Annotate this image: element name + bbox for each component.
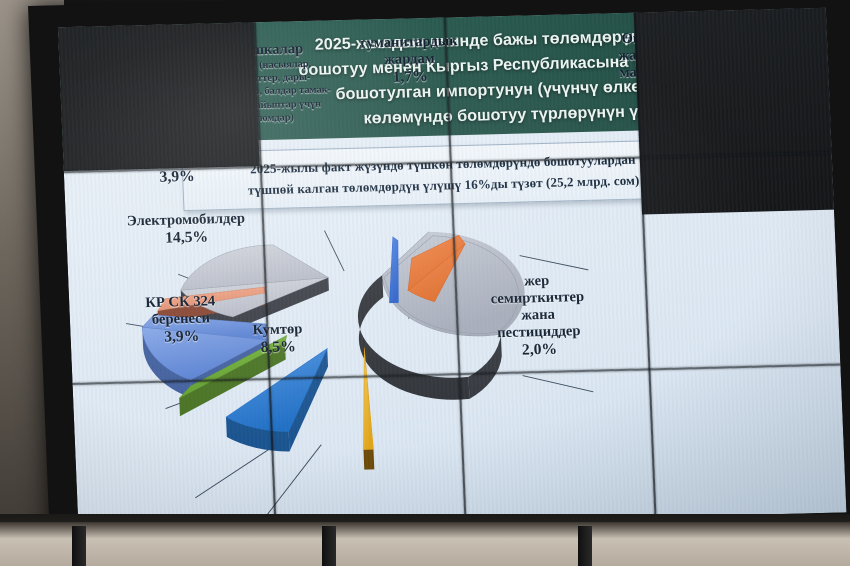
stand-leg-left (72, 526, 86, 566)
video-wall-panel-inactive-top-left (58, 22, 260, 171)
stand-leg-right (578, 526, 592, 566)
presentation-slide: КЫРГЫЗ БАЖЫСЫ KYRGYZ CUSTOMS (58, 8, 847, 532)
room-wall-bottom (0, 522, 850, 566)
stand-leg-center (322, 526, 336, 566)
label-fertilizers-pesticides: жер семирткичтер жана пестициддер 2,0% (456, 271, 620, 361)
video-wall-panel-inactive-right (634, 8, 834, 215)
label-humanitarian-aid: гуманитардык жардам 1,7% (336, 33, 482, 89)
label-electric-vehicles: Электромобилдер 14,5% (96, 210, 277, 250)
screenshot-stage: КЫРГЫЗ БАЖЫСЫ KYRGYZ CUSTOMS (0, 0, 850, 566)
video-wall-screen: КЫРГЫЗ БАЖЫСЫ KYRGYZ CUSTOMS (58, 8, 847, 532)
label-kumtor: Кумтөр 8,5% (222, 320, 333, 358)
pie-side-fertilizers (363, 449, 374, 469)
video-wall: КЫРГЫЗ БАЖЫСЫ KYRGYZ CUSTOMS (28, 0, 850, 564)
